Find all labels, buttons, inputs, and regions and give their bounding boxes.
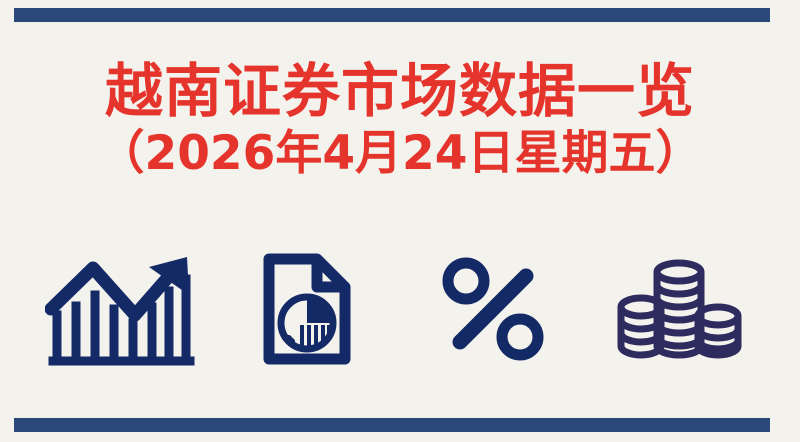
title-block: 越南证券市场数据一览 （2026年4月24日星期五） bbox=[0, 58, 800, 182]
report-document-icon bbox=[227, 248, 387, 370]
coin-stacks-icon bbox=[600, 248, 760, 370]
icon-row bbox=[40, 248, 760, 370]
growth-chart-icon bbox=[40, 248, 200, 370]
market-data-banner: 越南证券市场数据一览 （2026年4月24日星期五） bbox=[0, 0, 800, 442]
percent-icon bbox=[413, 248, 573, 370]
top-divider-bar bbox=[14, 8, 770, 22]
bottom-divider-bar bbox=[14, 418, 770, 432]
page-title: 越南证券市场数据一览 bbox=[0, 58, 800, 124]
page-subtitle-date: （2026年4月24日星期五） bbox=[0, 126, 800, 182]
